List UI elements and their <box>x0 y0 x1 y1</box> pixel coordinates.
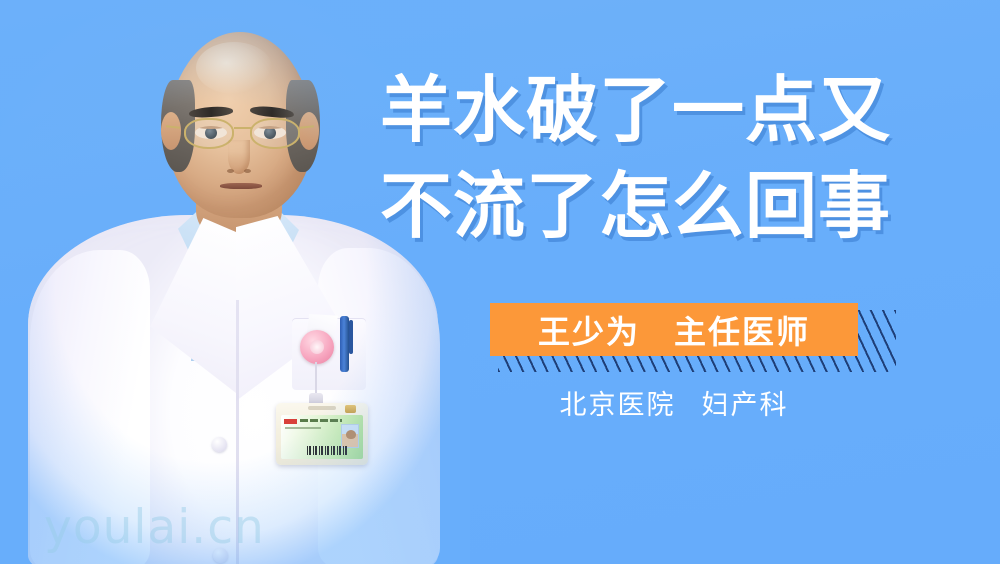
title-line-1: 羊水破了一点又 <box>380 62 980 158</box>
site-watermark: youlai.cn <box>44 500 265 555</box>
badge-holder-slot <box>308 406 336 410</box>
id-card-headline <box>300 419 342 422</box>
id-card <box>281 415 363 459</box>
glasses-lens-left <box>184 118 234 149</box>
hospital-name: 北京医院 <box>560 390 676 421</box>
thumbnail-canvas: youlai.cn 羊水破了一点又 不流了怎么回事 王少为 主任医师 北京医院妇… <box>0 0 1000 564</box>
department-name: 妇产科 <box>702 390 789 421</box>
pen-clip <box>349 320 353 354</box>
id-card-subline <box>285 427 321 429</box>
mouth <box>220 183 262 189</box>
id-card-logo <box>284 419 297 424</box>
title-line-2: 不流了怎么回事 <box>380 158 980 254</box>
id-badge <box>276 403 368 465</box>
glasses-bridge <box>234 127 252 129</box>
nostril-right <box>244 169 251 173</box>
glasses-lens-right <box>250 118 300 149</box>
affiliation-line: 北京医院妇产科 <box>490 383 858 422</box>
doctor-credential-banner: 王少为 主任医师 <box>490 303 858 356</box>
badge-reel-core <box>310 340 324 354</box>
scalp-highlight <box>196 42 272 94</box>
doctor-name: 王少为 <box>538 307 640 353</box>
badge-gold-emblem <box>345 405 356 413</box>
doctor-title: 主任医师 <box>674 307 810 353</box>
id-card-photo <box>341 424 359 448</box>
coat-button-upper <box>212 437 227 452</box>
id-card-barcode <box>307 446 347 455</box>
nostril-left <box>227 169 234 173</box>
title-block: 羊水破了一点又 不流了怎么回事 <box>380 62 980 254</box>
pen-icon <box>340 316 349 372</box>
